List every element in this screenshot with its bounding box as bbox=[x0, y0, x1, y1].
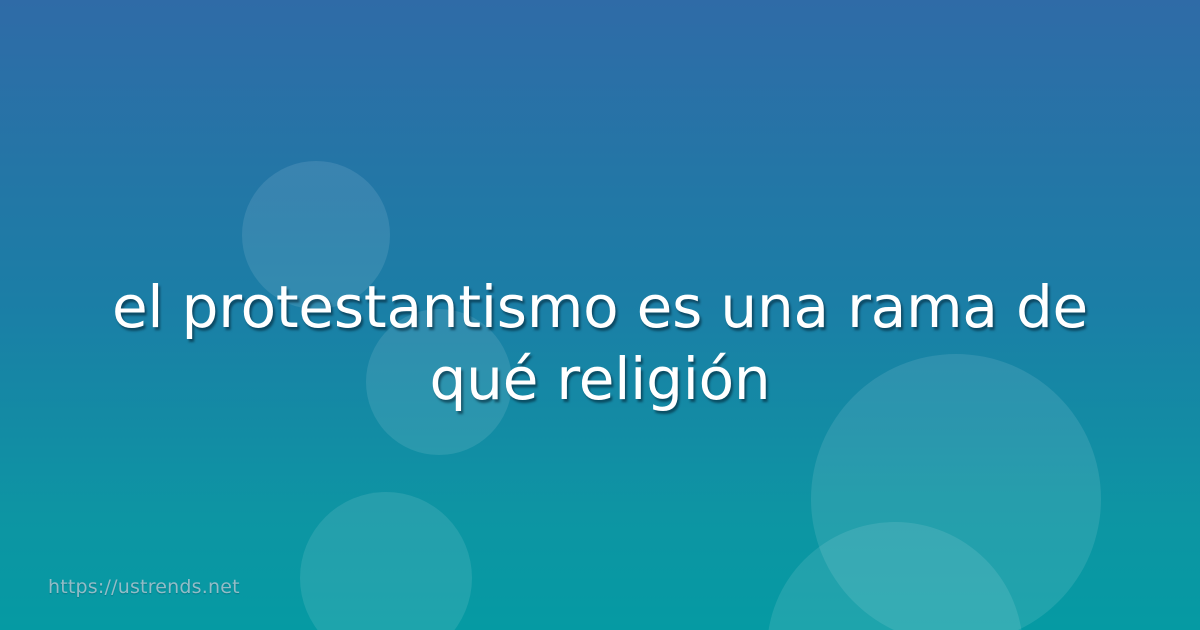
social-share-card: el protestantismo es una rama de qué rel… bbox=[0, 0, 1200, 630]
site-url-label: https://ustrends.net bbox=[48, 576, 240, 598]
bubble-lower-right-decor bbox=[767, 522, 1023, 630]
page-title: el protestantismo es una rama de qué rel… bbox=[0, 271, 1200, 415]
bubble-lower-left-decor bbox=[300, 492, 472, 630]
